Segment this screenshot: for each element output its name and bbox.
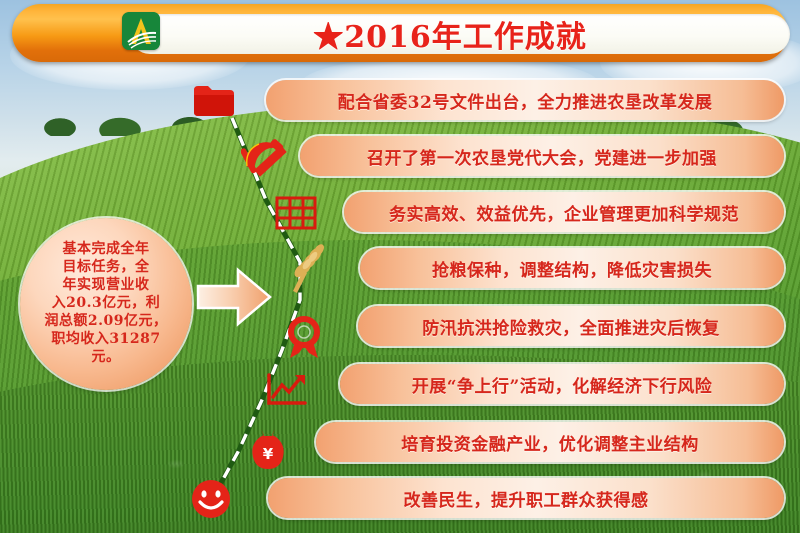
achievement-pill-2[interactable]: 召开了第一次农垦党代大会，党建进一步加强 <box>300 136 784 176</box>
summary-line: 润总额2.09亿元， <box>42 313 170 331</box>
right-arrow <box>196 266 272 328</box>
page-title: ★2016年工作成就 <box>313 12 587 56</box>
achievement-pill-3[interactable]: 务实高效、效益优先，企业管理更加科学规范 <box>344 192 784 232</box>
achievement-pill-5[interactable]: 防汛抗洪抢险救灾，全面推进灾后恢复 <box>358 306 784 346</box>
achievement-pill-8[interactable]: 改善民生，提升职工群众获得感 <box>268 478 784 518</box>
achievement-text: 防汛抗洪抢险救灾，全面推进灾后恢复 <box>422 314 720 339</box>
summary-line: 目标任务，全 <box>42 259 170 277</box>
achievement-text: 改善民生，提升职工群众获得感 <box>404 486 649 511</box>
achievement-pill-1[interactable]: 配合省委32号文件出台，全力推进农垦改革发展 <box>266 80 784 120</box>
achievement-text: 抢粮保种，调整结构，降低灾害损失 <box>432 256 712 281</box>
money-bag-icon: ¥ <box>248 425 288 475</box>
summary-oval-text: 基本完成全年 目标任务，全 年实现营业收 入20.3亿元，利 润总额2.09亿元… <box>42 241 170 366</box>
achievement-pill-7[interactable]: 培育投资金融产业，优化调整主业结构 <box>316 422 784 462</box>
lifebuoy-icon <box>284 316 324 364</box>
summary-line: 基本完成全年 <box>42 241 170 259</box>
achievement-text: 开展“争上行”活动，化解经济下行风险 <box>412 372 713 397</box>
achievement-text: 召开了第一次农垦党代大会，党建进一步加强 <box>367 144 717 169</box>
slide-canvas: ¥ ★2016年工作成就 基本完成全年 目标任务，全 年实现营业收 <box>0 0 800 533</box>
title-plate: ★2016年工作成就 <box>130 14 790 54</box>
summary-line: 元。 <box>42 349 170 367</box>
achievement-text: 培育投资金融产业，优化调整主业结构 <box>401 430 699 455</box>
summary-line: 职均收入31287 <box>42 331 170 349</box>
wheat-icon <box>283 243 325 299</box>
summary-line: 年实现营业收 <box>42 277 170 295</box>
party-emblem-icon <box>241 136 289 184</box>
achievement-pill-4[interactable]: 抢粮保种，调整结构，降低灾害损失 <box>360 248 784 288</box>
summary-line: 入20.3亿元，利 <box>42 295 170 313</box>
svg-text:¥: ¥ <box>263 445 274 463</box>
growth-chart-icon <box>265 371 309 413</box>
summary-oval: 基本完成全年 目标任务，全 年实现营业收 入20.3亿元，利 润总额2.09亿元… <box>20 218 192 390</box>
achievement-text: 配合省委32号文件出台，全力推进农垦改革发展 <box>338 88 713 113</box>
folder-icon <box>192 82 236 122</box>
achievement-text: 务实高效、效益优先，企业管理更加科学规范 <box>389 200 739 225</box>
smiley-face-icon <box>190 478 232 524</box>
agriculture-logo-icon <box>122 12 160 50</box>
grid-table-icon <box>275 196 317 234</box>
achievement-pill-6[interactable]: 开展“争上行”活动，化解经济下行风险 <box>340 364 784 404</box>
